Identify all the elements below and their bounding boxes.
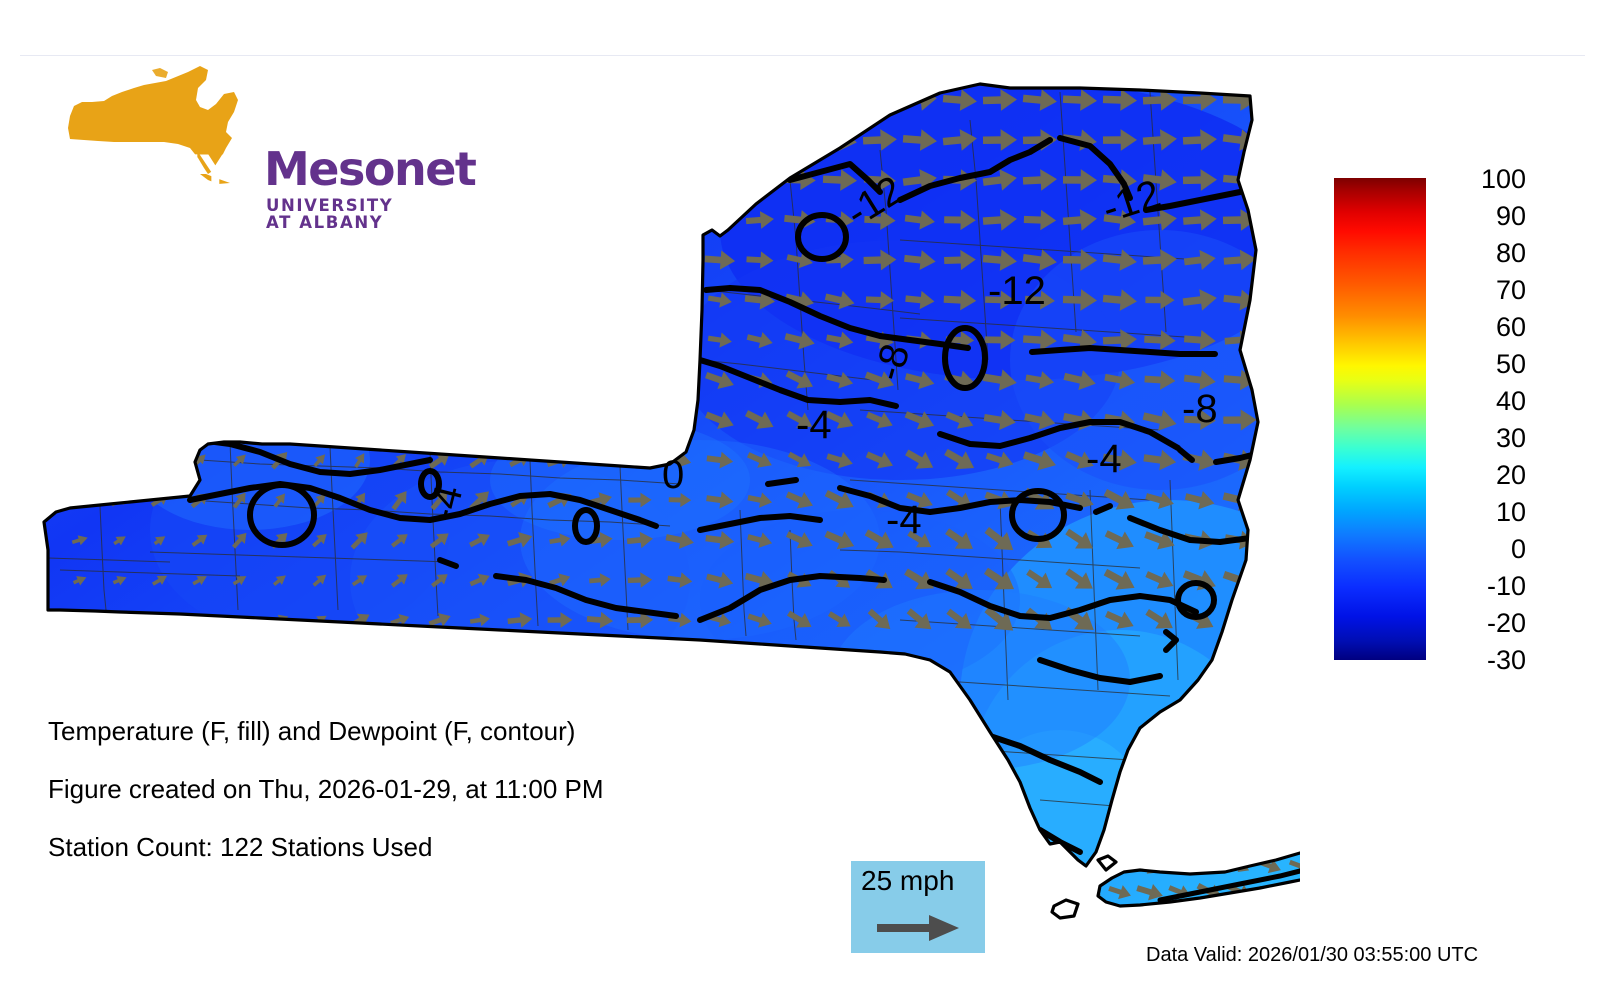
wind-arrow-icon bbox=[270, 253, 290, 267]
wind-arrow-icon bbox=[427, 369, 454, 392]
wind-arrow-icon bbox=[267, 370, 292, 391]
wind-arrow-icon bbox=[190, 253, 211, 266]
wind-arrow-icon bbox=[388, 291, 412, 309]
wind-arrow-icon bbox=[584, 130, 615, 151]
wind-arrow-icon bbox=[189, 291, 212, 309]
colorbar-tick: 20 bbox=[1434, 462, 1526, 489]
wind-arrow-icon bbox=[584, 169, 616, 191]
wind-arrow-icon bbox=[72, 373, 87, 387]
wind-arrow-icon bbox=[72, 413, 89, 427]
colorbar-tick: 0 bbox=[1434, 536, 1526, 563]
wind-arrow-icon bbox=[32, 295, 48, 306]
wind-arrow-icon bbox=[548, 372, 571, 389]
wind-arrow-icon bbox=[549, 333, 571, 347]
wind-arrow-icon bbox=[666, 369, 693, 391]
wind-arrow-icon bbox=[309, 173, 331, 187]
wind-arrow-icon bbox=[264, 89, 295, 111]
wind-arrow-icon bbox=[230, 254, 250, 267]
wind-arrow-icon bbox=[152, 614, 167, 627]
wind-arrow-icon bbox=[783, 88, 817, 112]
wind-arrow-icon bbox=[344, 89, 375, 111]
wind-arrow-icon bbox=[702, 167, 737, 192]
wind-arrow-icon bbox=[390, 411, 410, 429]
wind-arrow-icon bbox=[31, 373, 48, 387]
wind-arrow-icon bbox=[508, 411, 532, 430]
wind-arrow-icon bbox=[507, 251, 534, 270]
wind-arrow-icon bbox=[1074, 905, 1105, 932]
wind-arrow-icon bbox=[782, 127, 818, 152]
wind-arrow-icon bbox=[386, 368, 413, 391]
wind-arrow-icon bbox=[585, 209, 616, 231]
colorbar-tick: -10 bbox=[1434, 573, 1526, 600]
wind-arrow-icon bbox=[468, 252, 492, 268]
caption-station-count: Station Count: 122 Stations Used bbox=[48, 834, 808, 860]
wind-arrow-icon bbox=[27, 91, 53, 109]
wind-arrow-icon bbox=[109, 411, 130, 429]
wind-arrow-icon bbox=[584, 89, 617, 111]
wind-arrow-icon bbox=[1194, 826, 1227, 855]
wind-arrow-icon bbox=[384, 89, 416, 111]
wind-arrow-icon bbox=[623, 89, 657, 112]
wind-arrow-icon bbox=[192, 372, 209, 387]
wind-arrow-icon bbox=[743, 129, 776, 152]
temperature-colorbar bbox=[1334, 178, 1426, 660]
wind-arrow-icon bbox=[69, 253, 90, 267]
wind-arrow-icon bbox=[190, 213, 209, 226]
wind-arrow-icon bbox=[627, 251, 653, 268]
wind-arrow-icon bbox=[425, 130, 455, 149]
wind-arrow-icon bbox=[862, 87, 898, 112]
wind-arrow-icon bbox=[546, 250, 574, 269]
wind-arrow-icon bbox=[349, 293, 371, 308]
wind-arrow-icon bbox=[1225, 827, 1254, 852]
wind-arrow-icon bbox=[470, 293, 490, 306]
wind-arrow-icon bbox=[228, 369, 252, 391]
wind-arrow-icon bbox=[268, 212, 293, 228]
wind-arrow-icon bbox=[464, 89, 496, 111]
caption-created: Figure created on Thu, 2026-01-29, at 11… bbox=[48, 776, 808, 802]
wind-arrow-icon bbox=[311, 333, 330, 348]
wind-arrow-icon bbox=[1164, 827, 1196, 854]
wind-arrow-icon bbox=[307, 91, 333, 109]
wind-arrow-icon bbox=[306, 131, 335, 150]
wind-arrow-icon bbox=[1138, 830, 1162, 850]
wind-arrow-icon bbox=[70, 213, 90, 226]
wind-arrow-icon bbox=[547, 411, 573, 429]
colorbar-gradient bbox=[1334, 178, 1426, 660]
wind-arrow-icon bbox=[73, 294, 88, 306]
wind-arrow-icon bbox=[507, 132, 533, 149]
wind-arrow-icon bbox=[665, 209, 696, 230]
wind-arrow-icon bbox=[227, 91, 254, 108]
wind-arrow-icon bbox=[387, 329, 413, 351]
wind-arrow-icon bbox=[387, 211, 412, 229]
figure-canvas: NYS Mesonet UNIVERSITY AT ALBANY bbox=[0, 0, 1600, 1000]
wind-arrow-icon bbox=[508, 371, 532, 389]
wind-arrow-icon bbox=[310, 293, 331, 307]
wind-arrow-icon bbox=[31, 413, 49, 428]
wind-arrow-icon bbox=[270, 332, 289, 348]
wind-arrow-icon bbox=[663, 248, 696, 272]
wind-arrow-icon bbox=[704, 89, 737, 112]
colorbar-tick: 90 bbox=[1434, 203, 1526, 230]
contour-label: -8 bbox=[1182, 387, 1218, 431]
colorbar-tick: 50 bbox=[1434, 351, 1526, 378]
wind-arrow-icon bbox=[111, 613, 128, 626]
wind-arrow-icon bbox=[228, 409, 253, 432]
wind-arrow-icon bbox=[1257, 908, 1282, 929]
wind-arrow-icon bbox=[267, 131, 293, 149]
wind-arrow-icon bbox=[545, 129, 575, 150]
wind-arrow-icon bbox=[149, 93, 171, 108]
wind-arrow-icon bbox=[109, 450, 130, 470]
wind-arrow-icon bbox=[626, 370, 654, 390]
contour-label: -4 bbox=[796, 403, 832, 447]
wind-arrow-icon bbox=[544, 89, 576, 110]
wind-arrow-icon bbox=[231, 333, 249, 347]
colorbar-tick: -20 bbox=[1434, 610, 1526, 637]
colorbar-tick: 80 bbox=[1434, 240, 1526, 267]
wind-arrow-icon bbox=[466, 407, 495, 433]
wind-arrow-icon bbox=[877, 913, 961, 943]
wind-arrow-icon bbox=[308, 252, 332, 267]
wind-arrow-icon bbox=[32, 614, 49, 627]
wind-arrow-icon bbox=[1134, 904, 1167, 932]
wind-arrow-icon bbox=[546, 171, 573, 189]
wind-arrow-icon bbox=[623, 129, 656, 151]
wind-arrow-icon bbox=[507, 292, 533, 309]
contour-label: 0 bbox=[662, 453, 684, 497]
wind-arrow-icon bbox=[742, 168, 777, 193]
wind-arrow-icon bbox=[228, 172, 252, 188]
wind-arrow-icon bbox=[428, 331, 451, 350]
wind-arrow-icon bbox=[30, 213, 49, 227]
wind-arrow-icon bbox=[507, 171, 533, 189]
wind-arrow-icon bbox=[151, 412, 169, 427]
colorbar-tick: 70 bbox=[1434, 277, 1526, 304]
wind-arrow-icon bbox=[507, 332, 532, 349]
wind-arrow-icon bbox=[625, 410, 655, 431]
wind-arrow-icon bbox=[1285, 905, 1300, 930]
wind-arrow-icon bbox=[189, 132, 211, 147]
wind-arrow-icon bbox=[72, 614, 88, 627]
wind-arrow-icon bbox=[823, 89, 857, 111]
wind-arrow-icon bbox=[468, 331, 493, 349]
wind-arrow-icon bbox=[32, 334, 48, 346]
wind-arrow-icon bbox=[112, 334, 128, 346]
wind-arrow-icon bbox=[586, 331, 613, 349]
wind-arrow-icon bbox=[429, 253, 451, 267]
wind-arrow-icon bbox=[112, 294, 128, 306]
wind-arrow-icon bbox=[32, 573, 47, 586]
wind-arrow-icon bbox=[190, 173, 211, 186]
wind-arrow-icon bbox=[347, 132, 373, 149]
wind-arrow-icon bbox=[628, 291, 653, 309]
wind-arrow-icon bbox=[589, 293, 612, 308]
wind-arrow-icon bbox=[466, 369, 494, 391]
wind-arrow-icon bbox=[112, 373, 128, 387]
wind-arrow-icon bbox=[387, 172, 413, 189]
wind-arrow-icon bbox=[270, 411, 290, 429]
wind-arrow-icon bbox=[1167, 907, 1192, 929]
wind-arrow-icon bbox=[308, 408, 332, 432]
wind-arrow-icon bbox=[349, 172, 372, 188]
wind-arrow-icon bbox=[32, 493, 47, 507]
wind-arrow-icon bbox=[151, 372, 170, 388]
wind-arrow-icon bbox=[107, 131, 133, 149]
wind-arrow-icon bbox=[467, 211, 494, 229]
wind-arrow-icon bbox=[668, 411, 692, 428]
wind-arrow-icon bbox=[623, 208, 657, 232]
wind-arrow-icon bbox=[111, 254, 129, 266]
wind-arrow-icon bbox=[152, 294, 168, 306]
wind-arrow-icon bbox=[347, 211, 374, 230]
colorbar-tick: 10 bbox=[1434, 499, 1526, 526]
wind-arrow-icon bbox=[1287, 829, 1300, 850]
caption-title: Temperature (F, fill) and Dewpoint (F, c… bbox=[48, 718, 808, 744]
wind-arrow-icon bbox=[546, 210, 575, 230]
wind-arrow-icon bbox=[1225, 906, 1256, 930]
wind-arrow-icon bbox=[466, 171, 493, 189]
wind-arrow-icon bbox=[30, 133, 51, 148]
contour-label: -4 bbox=[886, 498, 922, 542]
wind-arrow-icon bbox=[153, 334, 168, 347]
wind-arrow-icon bbox=[231, 214, 249, 225]
wind-arrow-icon bbox=[663, 169, 697, 191]
wind-arrow-icon bbox=[109, 173, 131, 188]
wind-arrow-icon bbox=[503, 88, 536, 111]
wind-arrow-icon bbox=[587, 411, 614, 429]
wind-arrow-icon bbox=[69, 93, 92, 108]
wind-arrow-icon bbox=[192, 333, 208, 346]
wind-scale-label: 25 mph bbox=[861, 867, 954, 895]
wind-arrow-icon bbox=[31, 174, 49, 186]
wind-arrow-icon bbox=[191, 412, 208, 429]
wind-arrow-icon bbox=[384, 129, 416, 151]
wind-scale-key: 25 mph bbox=[851, 861, 985, 953]
wind-arrow-icon bbox=[269, 293, 291, 308]
wind-arrow-icon bbox=[309, 371, 330, 390]
colorbar-tick: 100 bbox=[1434, 166, 1526, 193]
wind-arrow-icon bbox=[589, 372, 611, 387]
wind-arrow-icon bbox=[231, 293, 250, 307]
wind-arrow-icon bbox=[31, 453, 49, 468]
data-valid-footer: Data Valid: 2026/01/30 03:55:00 UTC bbox=[1146, 945, 1478, 965]
wind-arrow-icon bbox=[149, 173, 170, 188]
wind-arrow-icon bbox=[107, 91, 134, 110]
colorbar-tick: 40 bbox=[1434, 388, 1526, 415]
wind-arrow-icon bbox=[662, 128, 698, 153]
wind-arrow-icon bbox=[71, 453, 89, 467]
wind-arrow-icon bbox=[149, 451, 170, 470]
wind-arrow-icon bbox=[429, 292, 451, 308]
wind-arrow-icon bbox=[427, 92, 453, 109]
wind-arrow-icon bbox=[348, 369, 372, 392]
contour-label: -4 bbox=[1086, 437, 1122, 481]
wind-arrow-icon bbox=[1045, 852, 1076, 879]
wind-arrow-icon bbox=[664, 89, 697, 111]
wind-arrow-icon bbox=[1257, 830, 1282, 851]
wind-arrow-icon bbox=[72, 334, 88, 346]
wind-arrow-icon bbox=[350, 332, 370, 347]
wind-arrow-icon bbox=[388, 252, 411, 269]
wind-arrow-icon bbox=[426, 170, 455, 190]
wind-arrow-icon bbox=[186, 90, 215, 110]
wind-arrow-icon bbox=[309, 212, 331, 227]
wind-arrow-icon bbox=[1105, 906, 1135, 930]
wind-arrow-icon bbox=[465, 130, 495, 149]
wind-arrow-icon bbox=[69, 172, 91, 188]
wind-arrow-icon bbox=[1108, 831, 1132, 850]
wind-arrow-icon bbox=[547, 290, 574, 309]
wind-arrow-icon bbox=[227, 132, 253, 149]
wind-arrow-icon bbox=[664, 328, 696, 352]
wind-arrow-icon bbox=[665, 289, 696, 310]
wind-arrow-icon bbox=[148, 212, 171, 227]
wind-arrow-icon bbox=[429, 410, 451, 430]
wind-arrow-icon bbox=[110, 213, 129, 226]
colorbar-tick: -30 bbox=[1434, 647, 1526, 674]
wind-arrow-icon bbox=[30, 253, 50, 266]
wind-arrow-icon bbox=[626, 330, 654, 349]
wind-arrow-icon bbox=[269, 172, 292, 188]
colorbar-tick: 60 bbox=[1434, 314, 1526, 341]
wind-arrow-icon bbox=[151, 254, 168, 265]
wind-arrow-icon bbox=[743, 88, 778, 112]
wind-arrow-icon bbox=[350, 253, 370, 267]
wind-arrow-icon bbox=[588, 252, 613, 269]
wind-arrow-icon bbox=[148, 132, 172, 147]
wind-arrow-icon bbox=[348, 408, 372, 432]
wind-arrow-icon bbox=[506, 210, 534, 229]
wind-arrow-icon bbox=[69, 132, 92, 147]
wind-arrow-icon bbox=[1196, 906, 1224, 930]
contour-label: -12 bbox=[988, 269, 1046, 313]
wind-arrow-icon bbox=[625, 170, 654, 190]
wind-arrow-icon bbox=[704, 129, 737, 152]
colorbar-tick-labels: 100 90 80 70 60 50 40 30 20 10 0 -10 -20… bbox=[1434, 166, 1544, 674]
wind-arrow-icon bbox=[428, 212, 452, 229]
colorbar-tick: 30 bbox=[1434, 425, 1526, 452]
figure-caption: Temperature (F, fill) and Dewpoint (F, c… bbox=[48, 718, 808, 892]
